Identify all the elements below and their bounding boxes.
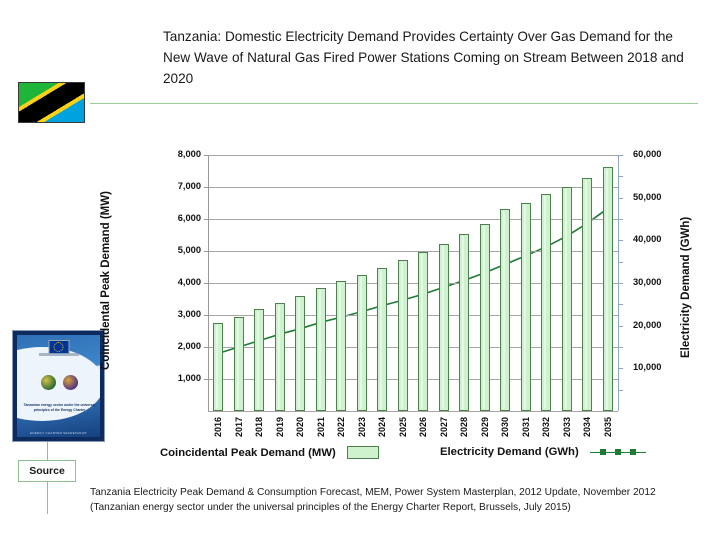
y-axis-right-tick-label: 20,000 [633, 320, 661, 330]
y-axis-left-tick-label: 7,000 [178, 181, 201, 191]
bar [377, 268, 387, 411]
report-cover-thumbnail: Tanzanian energy sector under the univer… [12, 330, 105, 442]
y-axis-left-tick [204, 347, 209, 348]
y-axis-left-tick [204, 219, 209, 220]
x-axis-tick-label: 2028 [459, 417, 469, 437]
gridline [208, 283, 618, 284]
bar [603, 167, 613, 411]
bar-highlight [339, 283, 341, 409]
y-axis-right-tick-label: 60,000 [633, 149, 661, 159]
bar-highlight [606, 169, 608, 409]
y-axis-left-title: Coincidental Peak Demand (MW) [100, 176, 112, 386]
emblem-energy-charter-icon [63, 375, 78, 390]
x-axis-tick-label: 2029 [480, 417, 490, 437]
legend-item-bar: Coincidental Peak Demand (MW) [160, 446, 379, 459]
legend-line-label: Electricity Demand (GWh) [440, 446, 579, 458]
x-axis-tick-label: 2032 [541, 417, 551, 437]
bar-highlight [565, 189, 567, 409]
y-axis-left-tick [204, 251, 209, 252]
emblem-tanzania-icon [41, 375, 56, 390]
gridline [208, 187, 618, 188]
report-cover-title: Tanzanian energy sector under the univer… [23, 403, 96, 413]
eu-flag-icon [48, 340, 69, 354]
bar [418, 252, 428, 411]
bar [562, 187, 572, 411]
source-connector-top [47, 442, 48, 460]
bar-highlight [544, 196, 546, 409]
x-axis-tick-label: 2033 [562, 417, 572, 437]
y-axis-left-tick-label: 8,000 [178, 149, 201, 159]
x-axis-tick-label: 2019 [275, 417, 285, 437]
y-axis-right-title: Electricity Demand (GWh) [680, 192, 692, 382]
y-axis-right-tick [618, 304, 623, 305]
source-box: Source [18, 460, 76, 482]
report-cover-art: Tanzanian energy sector under the univer… [17, 335, 100, 437]
chart-legend: Coincidental Peak Demand (MW) Electricit… [160, 446, 700, 466]
bar [582, 178, 592, 411]
page-title: Tanzania: Domestic Electricity Demand Pr… [163, 26, 693, 89]
y-axis-left-tick-label: 6,000 [178, 213, 201, 223]
bar-highlight [257, 311, 259, 409]
gridline [208, 219, 618, 220]
y-axis-left-tick-label: 5,000 [178, 245, 201, 255]
bar [336, 281, 346, 411]
y-axis-left-tick-label: 2,000 [178, 341, 201, 351]
x-axis-tick-label: 2023 [357, 417, 367, 437]
bar-highlight [319, 290, 321, 409]
y-axis-right-tick [618, 326, 623, 327]
bar-highlight [278, 305, 280, 409]
legend-line-marker [615, 449, 621, 455]
header-divider [90, 103, 698, 104]
legend-line-marker [630, 449, 636, 455]
x-axis-tick-label: 2021 [316, 417, 326, 437]
y-axis-right-tick [618, 368, 623, 369]
y-axis-right-tick [618, 347, 623, 348]
bar-highlight [503, 211, 505, 409]
x-axis-tick-label: 2027 [439, 417, 449, 437]
source-box-label: Source [29, 465, 65, 477]
bar [357, 275, 367, 411]
bar [295, 296, 305, 411]
x-axis-tick-label: 2020 [295, 417, 305, 437]
y-axis-right-tick [618, 219, 623, 220]
legend-item-line: Electricity Demand (GWh) [440, 446, 646, 458]
bar [213, 323, 223, 411]
legend-bar-swatch [347, 446, 379, 459]
bar-highlight [360, 277, 362, 409]
eu-stars [54, 342, 64, 352]
bar [316, 288, 326, 411]
bar [234, 317, 244, 411]
x-axis-tick-label: 2025 [398, 417, 408, 437]
y-axis-left-tick [204, 283, 209, 284]
y-axis-left-tick [204, 315, 209, 316]
x-axis-line [208, 411, 618, 412]
legend-bar-label: Coincidental Peak Demand (MW) [160, 447, 336, 459]
bar-highlight [524, 205, 526, 409]
flag-graphic [19, 83, 84, 122]
gridline [208, 347, 618, 348]
bar-highlight [421, 254, 423, 409]
bar [541, 194, 551, 411]
bar [480, 224, 490, 411]
gridline [208, 379, 618, 380]
x-axis-tick-label: 2016 [213, 417, 223, 437]
y-axis-left-tick-label: 4,000 [178, 277, 201, 287]
report-cover-footer: ENERGY CHARTER SECRETARIAT [17, 431, 100, 435]
y-axis-right-tick [618, 390, 623, 391]
bar [500, 209, 510, 411]
y-axis-left-tick-label: 1,000 [178, 373, 201, 383]
y-axis-right-tick-label: 30,000 [633, 277, 661, 287]
gridline [208, 251, 618, 252]
y-axis-right-tick-label: 40,000 [633, 234, 661, 244]
bar-highlight [442, 246, 444, 409]
report-cover-date: Brussels, July 2015 [66, 422, 92, 426]
x-axis-tick-label: 2030 [500, 417, 510, 437]
bar-highlight [462, 236, 464, 409]
bar-highlight [216, 325, 218, 409]
y-axis-right-tick [618, 198, 623, 199]
gridline [208, 315, 618, 316]
bar-highlight [483, 226, 485, 409]
x-axis-tick-label: 2024 [377, 417, 387, 437]
x-axis-tick-label: 2034 [582, 417, 592, 437]
bar-highlight [380, 270, 382, 409]
y-axis-right-tick-label: 10,000 [633, 362, 661, 372]
x-axis-tick-label: 2026 [418, 417, 428, 437]
y-axis-right-tick [618, 240, 623, 241]
bar-highlight [401, 262, 403, 409]
y-axis-right-tick [618, 283, 623, 284]
legend-line-marker [600, 449, 606, 455]
bar [275, 303, 285, 411]
tanzania-flag-icon [18, 82, 85, 123]
y-axis-left-tick [204, 379, 209, 380]
x-axis-tick-label: 2031 [521, 417, 531, 437]
y-axis-right-tick [618, 155, 623, 156]
x-axis-tick-label: 2022 [336, 417, 346, 437]
bar [254, 309, 264, 411]
x-axis-tick-label: 2035 [603, 417, 613, 437]
plot-area: 1,0002,0003,0004,0005,0006,0007,0008,000… [208, 155, 618, 411]
x-axis-tick-label: 2018 [254, 417, 264, 437]
bar-highlight [298, 298, 300, 409]
source-connector-bottom [47, 482, 48, 514]
y-axis-right-tick-label: 50,000 [633, 192, 661, 202]
gridline [208, 155, 618, 156]
y-axis-left-tick [204, 187, 209, 188]
y-axis-left-tick-label: 3,000 [178, 309, 201, 319]
bar [398, 260, 408, 411]
bar-highlight [237, 319, 239, 409]
y-axis-right-tick [618, 176, 623, 177]
bar [439, 244, 449, 411]
eu-caption-bar [39, 353, 79, 356]
y-axis-left-tick [204, 155, 209, 156]
flag-black-stripe [18, 82, 85, 123]
y-axis-right-tick [618, 262, 623, 263]
bar [521, 203, 531, 411]
legend-line-swatch [590, 447, 646, 458]
chart: Coincidental Peak Demand (MW) Electricit… [96, 146, 710, 414]
x-axis-tick-label: 2017 [234, 417, 244, 437]
bar-highlight [585, 180, 587, 409]
source-caption: Tanzania Electricity Peak Demand & Consu… [90, 485, 704, 515]
bar [459, 234, 469, 411]
